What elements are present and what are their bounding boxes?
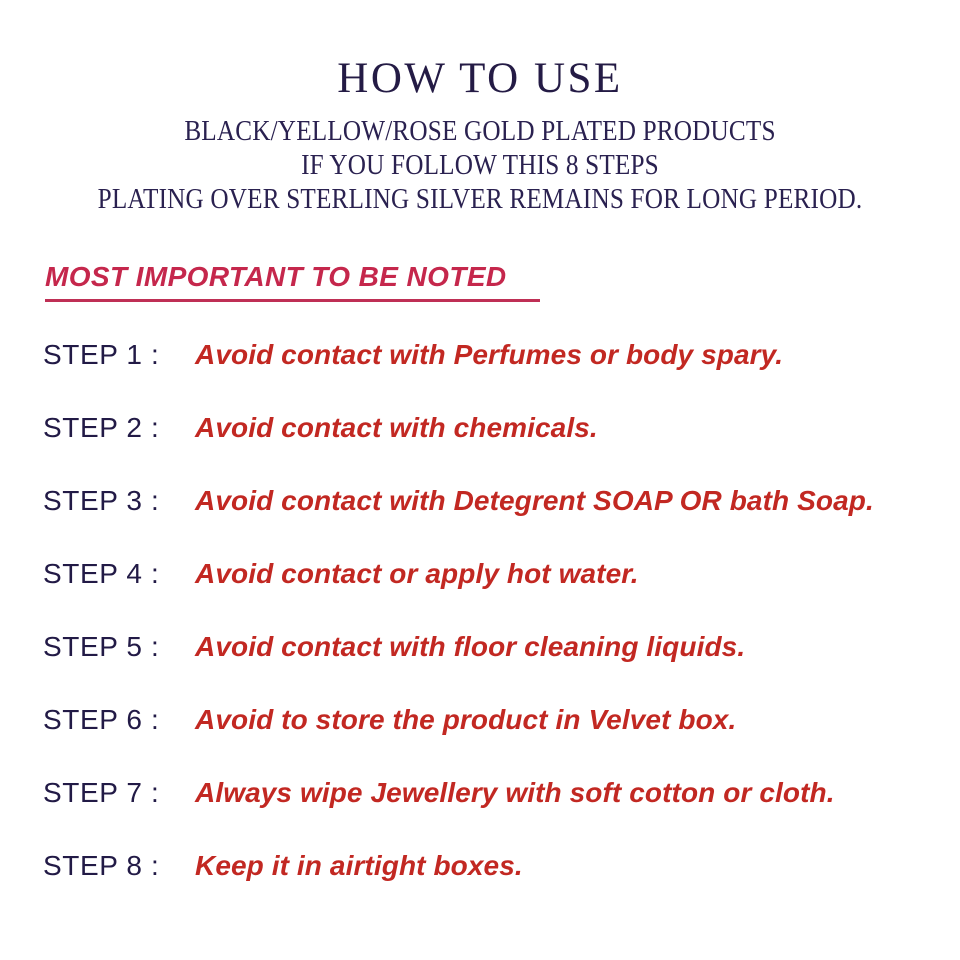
- step-label-4: STEP 4 :: [43, 555, 159, 593]
- list-item: STEP 3 : Avoid contact with Detegrent SO…: [43, 482, 943, 555]
- list-item: STEP 8 : Keep it in airtight boxes.: [43, 847, 943, 920]
- page-title: HOW TO USE: [0, 56, 960, 101]
- header-block: HOW TO USE BLACK/YELLOW/ROSE GOLD PLATED…: [0, 56, 960, 218]
- list-item: STEP 7 : Always wipe Jewellery with soft…: [43, 774, 943, 847]
- list-item: STEP 4 : Avoid contact or apply hot wate…: [43, 555, 943, 628]
- step-text-8: Keep it in airtight boxes.: [195, 847, 523, 885]
- step-label-8: STEP 8 :: [43, 847, 159, 885]
- step-label-7: STEP 7 :: [43, 774, 159, 812]
- step-label-2: STEP 2 :: [43, 409, 159, 447]
- step-text-7: Always wipe Jewellery with soft cotton o…: [195, 774, 835, 812]
- how-to-use-poster: HOW TO USE BLACK/YELLOW/ROSE GOLD PLATED…: [0, 0, 960, 960]
- step-label-3: STEP 3 :: [43, 482, 159, 520]
- step-text-6: Avoid to store the product in Velvet box…: [195, 701, 736, 739]
- step-label-1: STEP 1 :: [43, 336, 159, 374]
- steps-list: STEP 1 : Avoid contact with Perfumes or …: [43, 336, 943, 920]
- list-item: STEP 2 : Avoid contact with chemicals.: [43, 409, 943, 482]
- notice-heading: MOST IMPORTANT TO BE NOTED: [45, 262, 507, 293]
- step-text-4: Avoid contact or apply hot water.: [195, 555, 639, 593]
- notice-underline: [45, 299, 540, 302]
- step-text-2: Avoid contact with chemicals.: [195, 409, 598, 447]
- step-text-3: Avoid contact with Detegrent SOAP OR bat…: [195, 482, 874, 520]
- subtitle-line-1: BLACK/YELLOW/ROSE GOLD PLATED PRODUCTS: [48, 115, 912, 149]
- list-item: STEP 5 : Avoid contact with floor cleani…: [43, 628, 943, 701]
- step-label-6: STEP 6 :: [43, 701, 159, 739]
- step-label-5: STEP 5 :: [43, 628, 159, 666]
- list-item: STEP 6 : Avoid to store the product in V…: [43, 701, 943, 774]
- step-text-5: Avoid contact with floor cleaning liquid…: [195, 628, 745, 666]
- list-item: STEP 1 : Avoid contact with Perfumes or …: [43, 336, 943, 409]
- subtitle-line-3: PLATING OVER STERLING SILVER REMAINS FOR…: [48, 183, 912, 217]
- notice-block: MOST IMPORTANT TO BE NOTED: [45, 262, 540, 302]
- subtitle-line-2: IF YOU FOLLOW THIS 8 STEPS: [48, 149, 912, 183]
- step-text-1: Avoid contact with Perfumes or body spar…: [195, 336, 783, 374]
